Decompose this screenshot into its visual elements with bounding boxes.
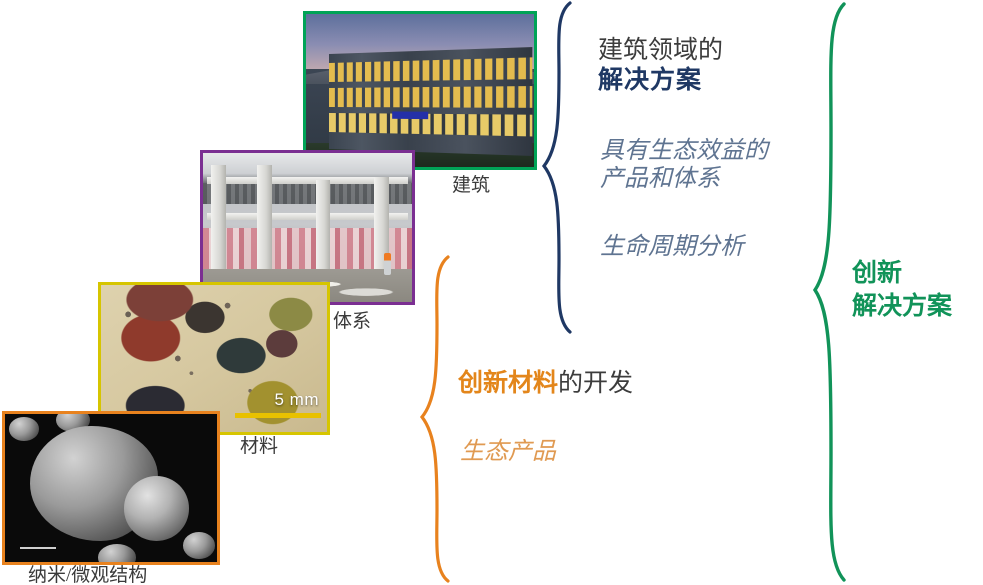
office-building-photo: [303, 11, 537, 170]
building-floor-2: [329, 86, 533, 108]
sem-scale-bar: [20, 547, 56, 549]
structure-photo-content: [203, 153, 412, 302]
outcome-line-2: 解决方案: [852, 291, 952, 324]
sem-particle-small-4: [183, 532, 215, 559]
blue-brace-icon: [540, 0, 584, 336]
building-facade: [329, 47, 533, 156]
sem-particle-small-3: [98, 544, 136, 565]
caption-building: 建筑: [452, 176, 490, 195]
green-brace-icon: [810, 0, 856, 585]
innovative-material-plain: 的开发: [558, 370, 633, 397]
building-floor-1: [329, 58, 533, 83]
caption-nano: 纳米/微观结构: [28, 566, 147, 585]
building-solutions-plain: 建筑领域的: [598, 37, 723, 64]
slide-canvas: 5 mm 建筑 体系 材料 纳米/微观结构 建筑领域的 解决方案 具有生态效益的…: [0, 0, 983, 585]
innovative-material-bold: 创新材料: [458, 370, 558, 397]
building-solutions-bold: 解决方案: [598, 66, 723, 96]
sem-particle-sphere: [124, 476, 190, 541]
life-cycle-analysis-text: 生命周期分析: [600, 233, 744, 261]
caption-material: 材料: [240, 437, 278, 456]
sem-particle-small-1: [9, 417, 39, 441]
eco-line-1: 具有生态效益的: [600, 137, 768, 165]
eco-product-text: 生态产品: [460, 438, 556, 466]
innovative-solutions-outcome: 创新 解决方案: [852, 258, 952, 323]
eco-products-systems-text: 具有生态效益的 产品和体系: [600, 137, 768, 194]
scale-bar-line: [235, 413, 321, 418]
outcome-line-1: 创新: [852, 258, 952, 291]
structure-worker: [384, 253, 391, 275]
sem-photo-content: [5, 414, 217, 562]
sem-micrograph-photo: [2, 411, 220, 565]
innovative-material-development-text: 创新材料的开发: [458, 369, 633, 399]
eco-line-2: 产品和体系: [600, 165, 768, 193]
caption-structure: 体系: [333, 312, 371, 331]
scale-bar-label: 5 mm: [275, 390, 320, 410]
orange-brace-icon: [418, 254, 462, 584]
building-solutions-heading: 建筑领域的 解决方案: [598, 36, 723, 95]
building-photo-content: [306, 14, 534, 167]
building-blue-sign: [392, 111, 428, 118]
building-floor-3: [329, 113, 533, 136]
